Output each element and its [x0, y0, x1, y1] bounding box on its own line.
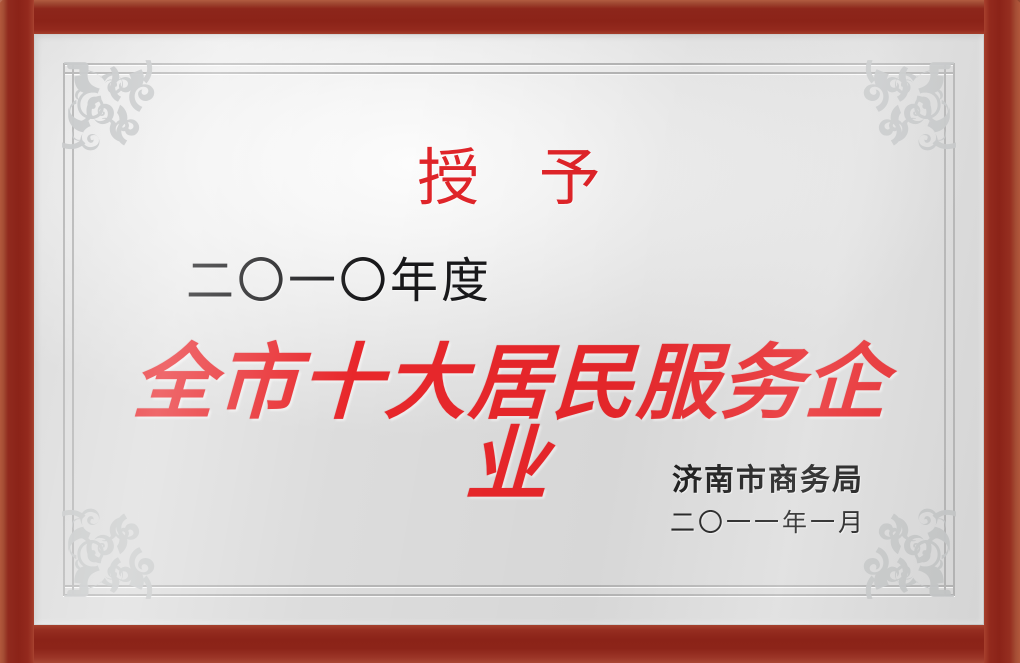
rule-bottom-inner [63, 585, 955, 587]
rule-left-outer [63, 63, 65, 596]
plaque-content: 授 予 二〇一〇年度 全市十大居民服务企业 济南市商务局 二〇一一年一月 [124, 90, 894, 569]
rule-right-outer [953, 63, 955, 596]
rule-top-outer [63, 63, 955, 65]
issuer-block: 济南市商务局 二〇一一年一月 [670, 462, 866, 540]
award-plaque: 授 予 二〇一〇年度 全市十大居民服务企业 济南市商务局 二〇一一年一月 [0, 0, 1020, 663]
rule-right-inner [944, 63, 946, 596]
silver-panel: 授 予 二〇一〇年度 全市十大居民服务企业 济南市商务局 二〇一一年一月 [34, 34, 984, 625]
frame-edge-left [0, 0, 34, 663]
rule-bottom-outer [63, 594, 955, 596]
award-verb-line: 授 予 [124, 148, 894, 210]
frame-edge-bottom [0, 625, 1020, 663]
rule-left-inner [72, 63, 74, 596]
issuer-name: 济南市商务局 [670, 462, 866, 500]
rule-top-inner [63, 72, 955, 74]
issue-date: 二〇一一年一月 [670, 509, 866, 539]
frame-edge-right [984, 0, 1020, 663]
award-year-line: 二〇一〇年度 [186, 258, 492, 306]
frame-edge-top [0, 0, 1020, 34]
